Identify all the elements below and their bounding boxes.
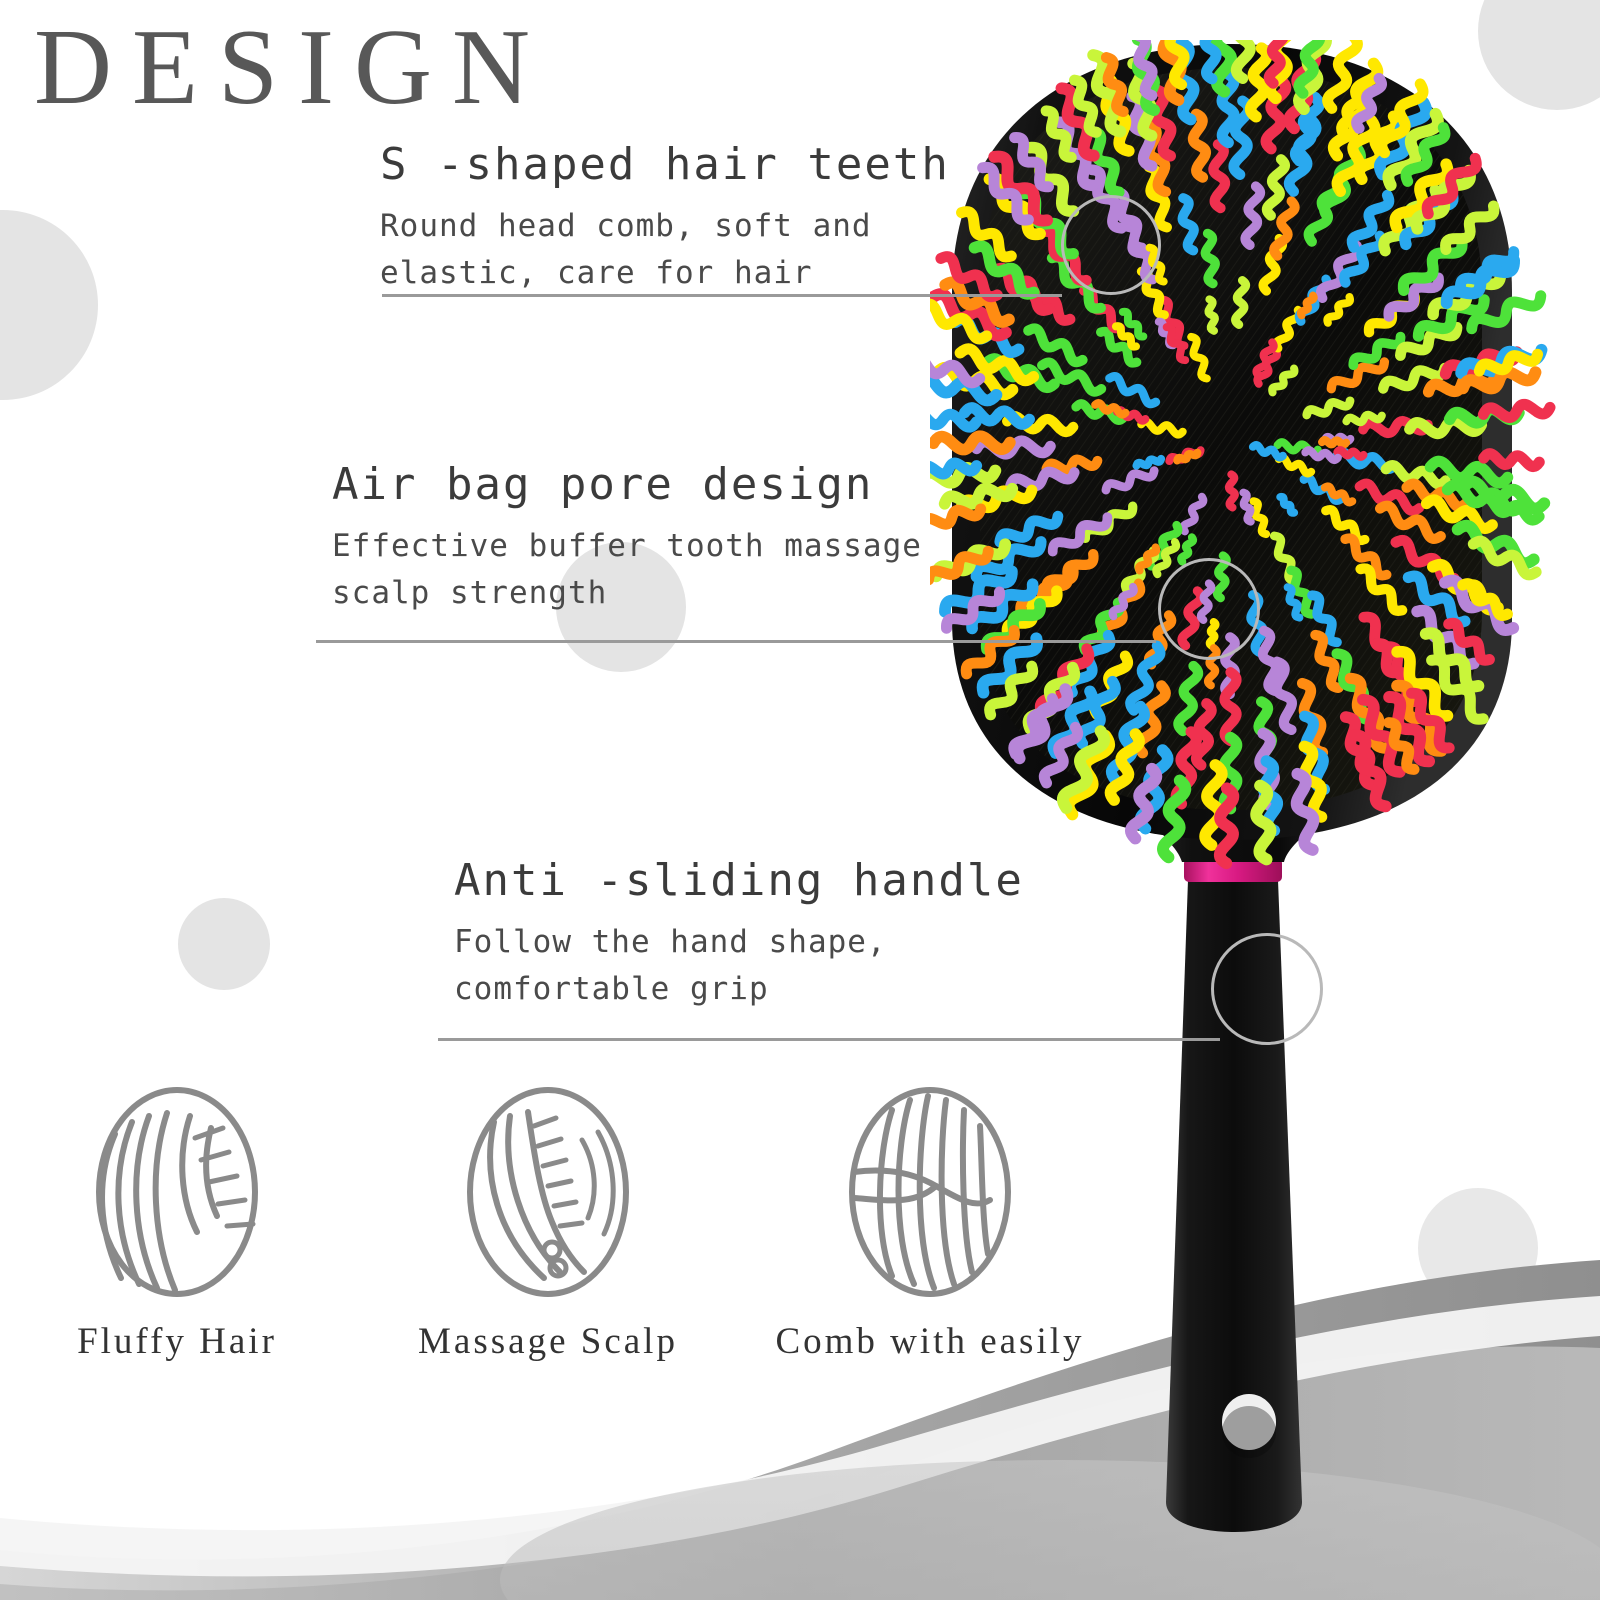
leader-line-teeth	[382, 294, 1062, 297]
leader-line-handle	[438, 1038, 1220, 1041]
feature-title: Anti -sliding handle	[454, 856, 1024, 907]
bristle	[1228, 474, 1235, 507]
feature-description-line-1: Follow the hand shape,	[454, 919, 1024, 966]
feature-description-line-2: comfortable grip	[454, 966, 1024, 1013]
feature-block-air-bag-pore-design: Air bag pore design Effective buffer too…	[332, 460, 922, 617]
benefit-label: Comb with easily	[765, 1320, 1095, 1363]
benefit-label: Fluffy Hair	[12, 1320, 342, 1363]
callout-ring-teeth	[1061, 195, 1161, 295]
feature-title: Air bag pore design	[332, 460, 922, 511]
comb-easily-icon	[830, 1082, 1030, 1302]
feature-description-line-2: elastic, care for hair	[380, 250, 950, 297]
infographic-canvas: DESIGN	[0, 0, 1600, 1600]
feature-block-anti-sliding-handle: Anti -sliding handle Follow the hand sha…	[454, 856, 1024, 1013]
bristle	[1207, 299, 1217, 331]
deco-circle-left-upper	[0, 210, 98, 400]
callout-ring-handle	[1211, 933, 1323, 1045]
feature-description: Follow the hand shape, comfortable grip	[454, 919, 1024, 1013]
massage-scalp-icon	[448, 1082, 648, 1302]
bristle	[1322, 440, 1346, 445]
deco-circle-left-lower	[178, 898, 270, 990]
benefit-item-fluffy-hair: Fluffy Hair	[12, 1082, 342, 1363]
fluffy-hair-icon	[77, 1082, 277, 1302]
benefit-item-comb-with-easily: Comb with easily	[765, 1082, 1095, 1363]
feature-description: Effective buffer tooth massage scalp str…	[332, 523, 922, 617]
page-title: DESIGN	[34, 14, 550, 122]
benefits-row: Fluffy Hair	[0, 1082, 1140, 1442]
feature-description-line-1: Round head comb, soft and	[380, 203, 950, 250]
benefit-label: Massage Scalp	[383, 1320, 713, 1363]
benefit-item-massage-scalp: Massage Scalp	[383, 1082, 713, 1363]
feature-description: Round head comb, soft and elastic, care …	[380, 203, 950, 297]
feature-description-line-2: scalp strength	[332, 570, 922, 617]
callout-ring-airbag	[1158, 558, 1260, 660]
feature-description-line-1: Effective buffer tooth massage	[332, 523, 922, 570]
feature-title: S -shaped hair teeth	[380, 140, 950, 191]
leader-line-airbag	[316, 640, 1156, 643]
feature-block-s-shaped-hair-teeth: S -shaped hair teeth Round head comb, so…	[380, 140, 950, 297]
